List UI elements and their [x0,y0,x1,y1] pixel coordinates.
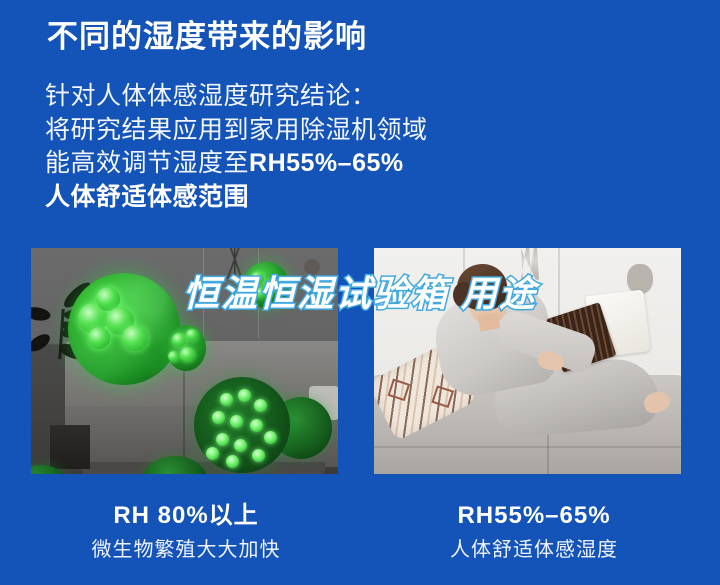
body-line-4: 人体舒适体感范围 [45,181,565,215]
dark-room-scene [31,248,338,474]
virus-spike [238,389,251,402]
microbe-cell [265,280,277,292]
wall-speaker-icon [304,259,320,275]
virus-spike [220,393,233,406]
microbe-sphere-icon [68,273,180,385]
humidity-effect-poster: 不同的湿度带来的影响 针对人体体感湿度研究结论： 将研究结果应用到家用除湿机领域… [0,0,720,585]
woman-head [457,264,513,328]
virus-spike [212,411,225,424]
microbe-sphere-icon [166,325,206,371]
caption-title: RH 80%以上 [16,500,356,532]
caption-title: RH55%–65% [364,500,704,532]
body-line-2: 将研究结果应用到家用除湿机领域 [45,114,565,148]
virus-sphere-icon [194,377,290,473]
microbe-sphere-icon [243,262,289,308]
caption-subtitle: 人体舒适体感湿度 [364,537,704,563]
woman-reading [423,264,662,436]
microbe-cell [251,272,264,285]
microbe-cell [122,325,148,351]
virus-spike [250,419,263,432]
photo-left-high-humidity [31,248,338,474]
wall-seam-icon [203,248,204,343]
sofa-seat-edge [374,446,681,448]
plant-leaf [31,304,52,324]
virus-spike [252,449,265,462]
body-copy: 针对人体体感湿度研究结论： 将研究结果应用到家用除湿机领域 能高效调节湿度至RH… [45,80,565,214]
photo-right-comfort-humidity [374,248,681,474]
microbe-cell [255,288,265,298]
photo-row [0,248,720,476]
microbe-cell [172,333,186,347]
plant-leaf [31,332,53,354]
virus-spike [264,431,277,444]
virus-spike [234,439,247,452]
plant-pot [50,425,90,469]
body-line-3-text: 能高效调节湿度至 [45,149,249,177]
microbe-cell [88,327,110,349]
virus-spike [226,455,239,468]
caption-high-humidity: RH 80%以上 微生物繁殖大大加快 [16,500,356,563]
bright-room-scene [374,248,681,474]
virus-spike [254,399,267,412]
microbe-cell [168,351,179,362]
virus-spike [206,447,219,460]
caption-subtitle: 微生物繁殖大大加快 [16,537,356,563]
virus-spike [216,433,229,446]
virus-spike [230,415,243,428]
page-title: 不同的湿度带来的影响 [47,18,367,56]
microbe-cell [186,329,198,341]
caption-comfort-humidity: RH55%–65% 人体舒适体感湿度 [364,500,704,563]
body-line-3-highlight: RH55%–65% [249,149,404,177]
woman-neck [477,312,499,331]
woman-hair-bun [453,282,475,308]
cushion-motif-icon [388,379,411,402]
caption-row: RH 80%以上 微生物繁殖大大加快 RH55%–65% 人体舒适体感湿度 [0,500,720,585]
body-line-1: 针对人体体感湿度研究结论： [45,80,565,114]
body-line-3: 能高效调节湿度至RH55%–65% [45,147,565,181]
microbe-cell [180,347,195,362]
